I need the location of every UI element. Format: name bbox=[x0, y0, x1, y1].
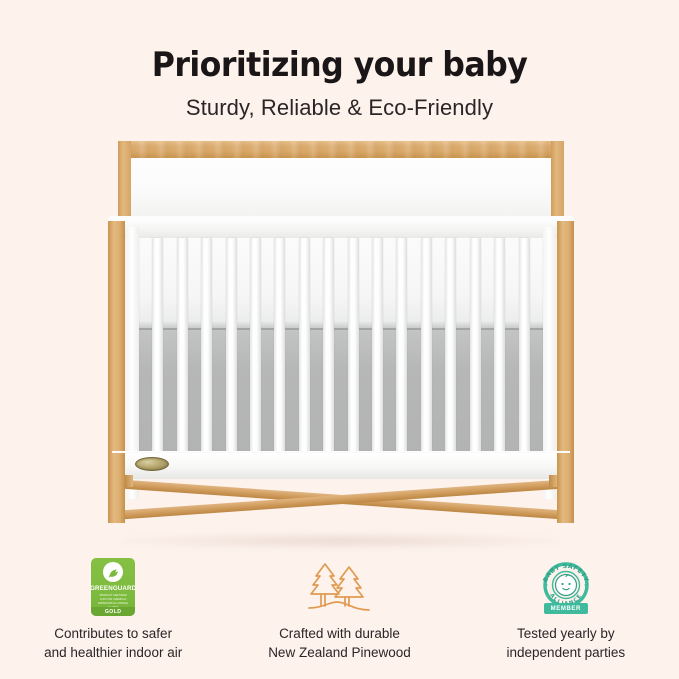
header: Prioritizing your baby Sturdy, Reliable … bbox=[0, 0, 679, 121]
page-subtitle: Sturdy, Reliable & Eco-Friendly bbox=[0, 95, 679, 121]
crib-slat bbox=[445, 238, 456, 456]
trust-badges: GREENGUARD PRODUCT CERTIFIED FOR LOW CHE… bbox=[0, 556, 679, 662]
crib-leg-right bbox=[557, 453, 574, 523]
floor-shadow bbox=[120, 533, 560, 549]
badge-caption-line-2: independent parties bbox=[507, 644, 626, 663]
badge-caption-baby-safety: Tested yearly by independent parties bbox=[507, 625, 626, 662]
pine-trees-icon bbox=[303, 556, 375, 618]
crib-illustration bbox=[108, 135, 574, 535]
crib-slats bbox=[128, 238, 554, 456]
badge-caption-line-1: Contributes to safer bbox=[44, 625, 182, 644]
crib-brace-cap-right bbox=[549, 475, 557, 487]
crib-slat bbox=[519, 238, 530, 456]
crib-slat bbox=[299, 238, 310, 456]
crib-headboard-post-right bbox=[551, 141, 564, 221]
greenguard-gold-certification-badge: GREENGUARD PRODUCT CERTIFIED FOR LOW CHE… bbox=[91, 556, 135, 618]
badge-caption-line-2: and healthier indoor air bbox=[44, 644, 182, 663]
badge-caption-greenguard: Contributes to safer and healthier indoo… bbox=[44, 625, 182, 662]
badge-caption-line-1: Tested yearly by bbox=[507, 625, 626, 644]
baby-safety-alliance-member-seal: BABY SAFETY ALLIANCE MEMBER bbox=[536, 556, 596, 618]
crib-brace-cap-left bbox=[125, 475, 133, 487]
crib-slat bbox=[348, 238, 359, 456]
badge-caption-line-1: Crafted with durable bbox=[268, 625, 411, 644]
page-title: Prioritizing your baby bbox=[24, 48, 655, 84]
crib-slat bbox=[201, 238, 212, 456]
crib-leg-left bbox=[108, 453, 125, 523]
crib-slat bbox=[250, 238, 261, 456]
badge-greenguard: GREENGUARD PRODUCT CERTIFIED FOR LOW CHE… bbox=[0, 556, 226, 662]
seal-member-band: MEMBER bbox=[544, 603, 588, 614]
crib-headboard-top-rail bbox=[118, 141, 564, 158]
crib-slat bbox=[177, 238, 188, 456]
crib-slat bbox=[323, 238, 334, 456]
crib-slat bbox=[372, 238, 383, 456]
product-image-crib bbox=[0, 135, 679, 545]
brand-medallion bbox=[135, 457, 169, 471]
crib-slat bbox=[421, 238, 432, 456]
crib-headboard-post-left bbox=[118, 141, 131, 221]
crib-slat bbox=[494, 238, 505, 456]
greenguard-wordmark: GREENGUARD bbox=[91, 585, 135, 592]
greenguard-leaf-icon bbox=[103, 562, 123, 582]
badge-caption-pinewood: Crafted with durable New Zealand Pinewoo… bbox=[268, 625, 411, 662]
crib-slat bbox=[274, 238, 285, 456]
crib-slat bbox=[152, 238, 163, 456]
crib-slat bbox=[396, 238, 407, 456]
crib-slat bbox=[226, 238, 237, 456]
badge-baby-safety-alliance: BABY SAFETY ALLIANCE MEMBER Tested yearl… bbox=[453, 556, 679, 662]
crib-slat bbox=[470, 238, 481, 456]
crib-cross-brace bbox=[125, 475, 557, 523]
crib-top-side-rail bbox=[108, 216, 574, 238]
badge-pinewood: Crafted with durable New Zealand Pinewoo… bbox=[226, 556, 452, 662]
badge-caption-line-2: New Zealand Pinewood bbox=[268, 644, 411, 663]
greenguard-tier-label: GOLD bbox=[91, 607, 135, 616]
